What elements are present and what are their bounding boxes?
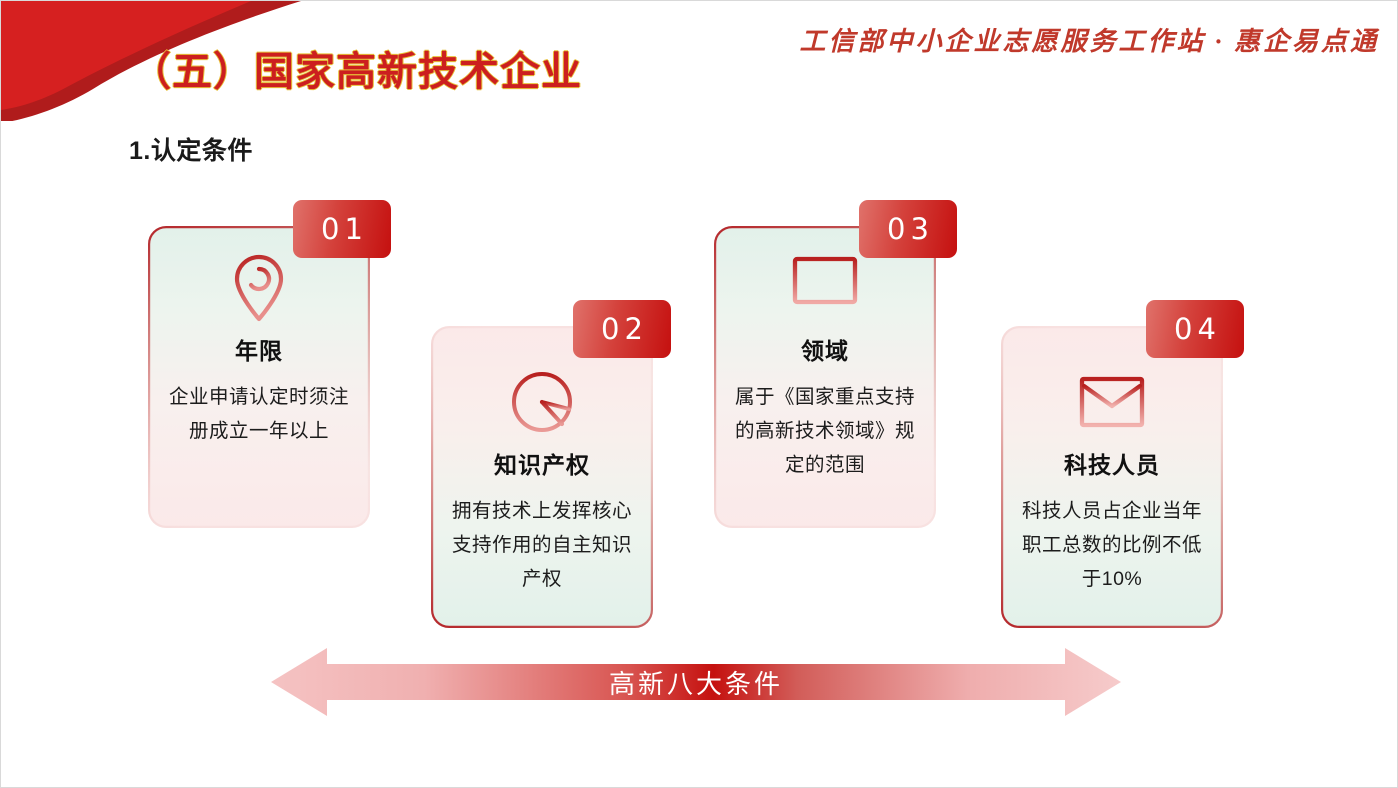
card-number-label: 03 <box>882 212 934 246</box>
card-number-label: 04 <box>1169 312 1221 346</box>
card-heading: 年限 <box>235 332 283 366</box>
card-number-label: 01 <box>316 212 368 246</box>
card-body-text: 属于《国家重点支持的高新技术领域》规定的范围 <box>733 380 918 482</box>
envelope-icon <box>1076 366 1148 438</box>
brand-header-text: 工信部中小企业志愿服务工作站 · 惠企易点通 <box>799 21 1379 58</box>
card-number-badge: 04 <box>1146 300 1244 358</box>
card-body-text: 企业申请认定时须注册成立一年以上 <box>167 380 352 448</box>
condition-card[interactable]: 领域 属于《国家重点支持的高新技术领域》规定的范围 <box>714 226 936 528</box>
pie-chart-icon <box>507 366 577 438</box>
card-body-text: 拥有技术上发挥核心支持作用的自主知识产权 <box>450 494 635 596</box>
condition-card[interactable]: 知识产权 拥有技术上发挥核心支持作用的自主知识产权 <box>431 326 653 628</box>
summary-arrow-banner: 高新八大条件 <box>271 646 1121 718</box>
double-arrow-shape <box>271 646 1121 718</box>
card-body-text: 科技人员占企业当年职工总数的比例不低于10% <box>1020 494 1205 596</box>
card-number-badge: 02 <box>573 300 671 358</box>
monitor-icon <box>788 252 862 324</box>
page-title: （五）国家高新技术企业 <box>131 39 582 97</box>
section-heading: 1.认定条件 <box>129 131 253 167</box>
card-heading: 科技人员 <box>1064 446 1160 480</box>
card-number-badge: 03 <box>859 200 957 258</box>
condition-card[interactable]: 年限 企业申请认定时须注册成立一年以上 <box>148 226 370 528</box>
card-heading: 知识产权 <box>494 446 590 480</box>
slide-canvas: 工信部中小企业志愿服务工作站 · 惠企易点通 （五）国家高新技术企业 1.认定条… <box>0 0 1398 788</box>
location-pin-icon <box>230 252 288 324</box>
condition-card[interactable]: 科技人员 科技人员占企业当年职工总数的比例不低于10% <box>1001 326 1223 628</box>
card-heading: 领域 <box>801 332 849 366</box>
card-number-label: 02 <box>596 312 648 346</box>
card-number-badge: 01 <box>293 200 391 258</box>
